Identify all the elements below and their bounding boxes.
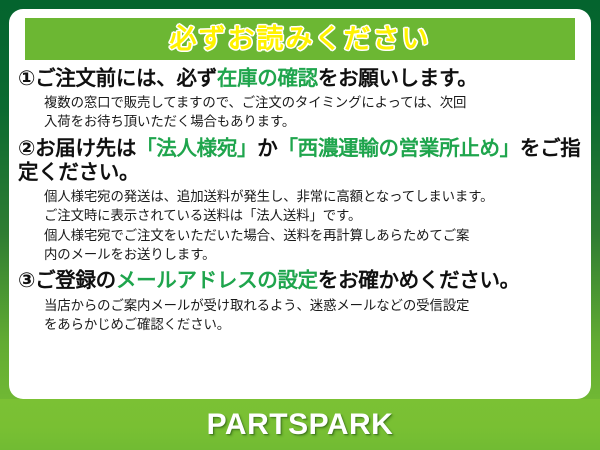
highlight-text: 「法人様宛」	[136, 137, 257, 160]
notice-item-heading: ①ご注文前には、必ず在庫の確認をお願いします。	[18, 67, 583, 91]
notice-item: ②お届け先は「法人様宛」か「西濃運輸の営業所止め」をご指定ください。個人様宅宛の…	[18, 137, 583, 265]
notice-item-heading: ②お届け先は「法人様宛」か「西濃運輸の営業所止め」をご指定ください。	[18, 137, 583, 185]
page-title: 必ずお読みください	[170, 26, 431, 53]
notice-item-list: ①ご注文前には、必ず在庫の確認をお願いします。複数の窓口で販売してますので、ご注…	[9, 67, 591, 339]
item-marker: ③	[18, 269, 35, 292]
heading-text: か	[257, 137, 277, 160]
brand-logo: PARTSPARK	[207, 410, 394, 440]
notice-frame: 必ずお読みください ①ご注文前には、必ず在庫の確認をお願いします。複数の窓口で販…	[0, 0, 600, 450]
item-marker: ②	[18, 137, 35, 160]
highlight-text: メールアドレスの設定	[116, 269, 318, 292]
heading-text: をお願いします。	[318, 67, 478, 90]
heading-text: をお確かめください。	[318, 269, 520, 292]
header-banner: 必ずお読みください	[25, 18, 575, 60]
highlight-text: 「西濃運輸の営業所止め」	[277, 137, 519, 160]
notice-item-heading: ③ご登録のメールアドレスの設定をお確かめください。	[18, 269, 583, 293]
heading-text: ご登録の	[35, 269, 116, 292]
notice-item: ③ご登録のメールアドレスの設定をお確かめください。当店からのご案内メールが受け取…	[18, 269, 583, 334]
notice-item-body: 個人様宅宛の発送は、追加送料が発生し、非常に高額となってしまいます。 ご注文時に…	[18, 187, 583, 264]
notice-card: 必ずお読みください ①ご注文前には、必ず在庫の確認をお願いします。複数の窓口で販…	[9, 9, 591, 399]
highlight-text: 在庫の確認	[217, 67, 318, 90]
heading-text: ご注文前には、必ず	[35, 67, 217, 90]
notice-item: ①ご注文前には、必ず在庫の確認をお願いします。複数の窓口で販売してますので、ご注…	[18, 67, 583, 132]
notice-item-body: 当店からのご案内メールが受け取れるよう、迷惑メールなどの受信設定 をあらかじめご…	[18, 296, 583, 335]
footer-bar: PARTSPARK	[0, 399, 600, 450]
notice-item-body: 複数の窓口で販売してますので、ご注文のタイミングによっては、次回 入荷をお待ち頂…	[18, 93, 583, 132]
heading-text: お届け先は	[35, 137, 136, 160]
item-marker: ①	[18, 67, 35, 90]
